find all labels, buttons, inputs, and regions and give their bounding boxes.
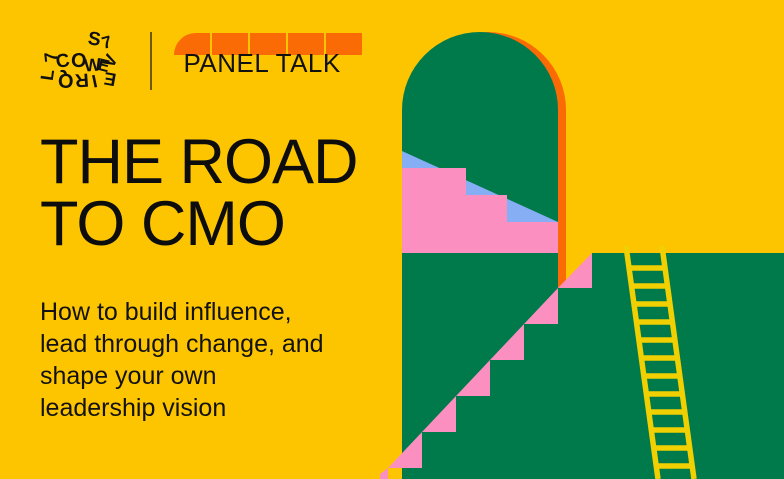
logo-letter-10: R	[74, 70, 89, 90]
logo-letter-9: Q	[58, 70, 74, 91]
panel-talk-badge: PANEL TALK	[174, 33, 362, 89]
header-divider	[150, 32, 152, 90]
logo-letter-1: 7	[100, 33, 113, 52]
poster-canvas: S 7 V 7 C O W E L Q R I E PANEL TALK	[0, 0, 784, 479]
scrambled-letters-logo: S 7 V 7 C O W E L Q R I E	[40, 30, 128, 92]
logo-letter-8: L	[38, 68, 57, 81]
page-subtitle: How to build influence, lead through cha…	[40, 296, 392, 424]
arch-stairs-ladder-illustration	[380, 0, 784, 479]
step-edge-7	[380, 468, 388, 479]
logo-letter-12: E	[103, 69, 118, 89]
poster-header: S 7 V 7 C O W E L Q R I E PANEL TALK	[40, 28, 362, 94]
logo-letter-0: S	[87, 29, 102, 50]
badge-label: PANEL TALK	[184, 48, 341, 79]
